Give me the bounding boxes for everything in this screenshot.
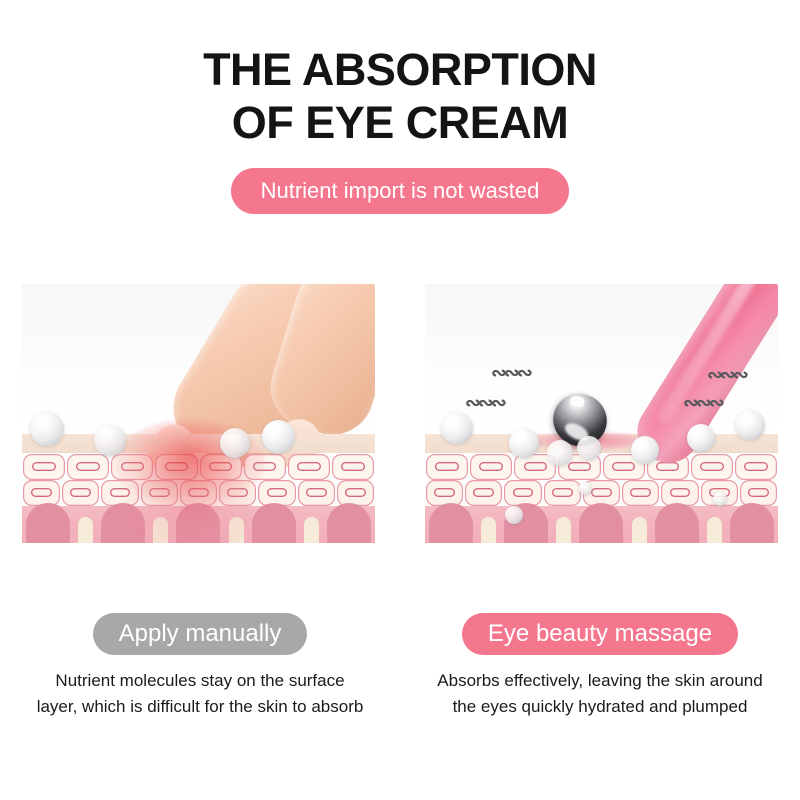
- dermal-papilla-small: [707, 517, 722, 543]
- cell-nucleus: [670, 488, 691, 497]
- subtitle-row: Nutrient import is not wasted: [0, 168, 800, 214]
- dermal-papilla: [579, 503, 623, 543]
- cell-nucleus: [435, 462, 459, 471]
- cell-nucleus: [479, 462, 503, 471]
- cell-nucleus: [297, 462, 321, 471]
- skin-cell: [470, 454, 512, 480]
- skin-cross-section-right: [425, 434, 778, 543]
- dermis-layer: [425, 506, 778, 543]
- illustration-panels: ∾∾∾ ∾∾∾ ∾∾∾ ∾∾∾: [0, 284, 800, 553]
- nutrient-pearl: [94, 424, 126, 456]
- cell-nucleus: [700, 462, 724, 471]
- cell-nucleus: [345, 488, 366, 497]
- nutrient-pearl: [509, 428, 539, 458]
- cell-nucleus: [591, 488, 612, 497]
- nutrient-pearl-absorbed: [505, 506, 523, 524]
- skin-cell: [67, 454, 109, 480]
- dermal-papilla-small: [632, 517, 647, 543]
- cell-nucleus: [748, 488, 769, 497]
- cell-nucleus: [32, 462, 56, 471]
- dermal-papilla-small: [304, 517, 319, 543]
- header: THE ABSORPTION OF EYE CREAM Nutrient imp…: [0, 0, 800, 214]
- nutrient-pearl: [631, 436, 659, 464]
- vibration-icon: ∾∾∾: [465, 394, 504, 413]
- dermal-papilla-small: [556, 517, 571, 543]
- skin-cell: [735, 454, 777, 480]
- caption-label-eye-beauty-massage: Eye beauty massage: [462, 613, 738, 655]
- nutrient-pearl-absorbed: [579, 482, 592, 495]
- panel-baseline: [425, 543, 778, 553]
- cell-nucleus: [630, 488, 651, 497]
- nutrient-pearl: [262, 420, 295, 453]
- cell-nucleus: [473, 488, 494, 497]
- nutrient-pearl: [547, 440, 573, 466]
- cell-nucleus: [70, 488, 91, 497]
- cell-nucleus: [524, 462, 548, 471]
- cell-nucleus: [656, 462, 680, 471]
- cell-nucleus: [552, 488, 573, 497]
- caption-body-eye-beauty-massage: Absorbs effectively, leaving the skin ar…: [400, 668, 800, 720]
- dermal-papillae-row: [425, 501, 778, 543]
- nutrient-pearl: [687, 424, 715, 452]
- dermal-papilla-small: [78, 517, 93, 543]
- caption-body-apply-manually: Nutrient molecules stay on the surface l…: [0, 668, 400, 720]
- caption-label-apply-manually: Apply manually: [93, 613, 308, 655]
- cell-nucleus: [31, 488, 52, 497]
- vibration-icon: ∾∾∾: [683, 394, 722, 413]
- dermal-papilla: [730, 503, 774, 543]
- subtitle-badge: Nutrient import is not wasted: [231, 168, 570, 214]
- dermal-papilla: [655, 503, 699, 543]
- caption-manual-application: Apply manually Nutrient molecules stay o…: [0, 613, 400, 720]
- page-title-line-2: OF EYE CREAM: [0, 97, 800, 150]
- cell-nucleus: [612, 462, 636, 471]
- skin-cell: [332, 454, 374, 480]
- skin-cell: [691, 454, 733, 480]
- cell-nucleus: [76, 462, 100, 471]
- skin-cell: [288, 454, 330, 480]
- skin-cell: [23, 454, 65, 480]
- page-title-line-1: THE ABSORPTION: [0, 44, 800, 97]
- dermal-papilla-small: [481, 517, 496, 543]
- panel-manual-application: [22, 284, 375, 553]
- captions-row: Apply manually Nutrient molecules stay o…: [0, 613, 800, 720]
- cell-nucleus: [513, 488, 534, 497]
- nutrient-pearl: [441, 412, 473, 444]
- nutrient-pearl-absorbed: [713, 492, 727, 506]
- cell-nucleus: [306, 488, 327, 497]
- dermal-papilla: [327, 503, 371, 543]
- dermal-papilla: [429, 503, 473, 543]
- nutrient-pearl: [577, 436, 601, 460]
- cell-nucleus: [267, 488, 288, 497]
- cell-nucleus: [744, 462, 768, 471]
- cell-nucleus: [434, 488, 455, 497]
- nutrient-pearl: [735, 410, 765, 440]
- dermal-papilla: [252, 503, 296, 543]
- epidermis-cell-row-1: [425, 453, 778, 480]
- nutrient-pearl: [30, 412, 64, 446]
- caption-eye-beauty-massage: Eye beauty massage Absorbs effectively, …: [400, 613, 800, 720]
- cell-nucleus: [341, 462, 365, 471]
- vibration-icon: ∾∾∾: [707, 366, 746, 385]
- dermal-papilla: [26, 503, 70, 543]
- eye-cream-absorption-infographic: { "header": { "title_line_1": "THE ABSOR…: [0, 0, 800, 800]
- skin-cell: [426, 454, 468, 480]
- panel-baseline: [22, 543, 375, 553]
- cell-nucleus: [110, 488, 131, 497]
- irritation-glow-deep: [126, 462, 254, 553]
- nutrient-pearl: [220, 428, 250, 458]
- vibration-icon: ∾∾∾: [491, 364, 530, 383]
- panel-eye-beauty-massage: ∾∾∾ ∾∾∾ ∾∾∾ ∾∾∾: [425, 284, 778, 553]
- cell-nucleus: [568, 462, 592, 471]
